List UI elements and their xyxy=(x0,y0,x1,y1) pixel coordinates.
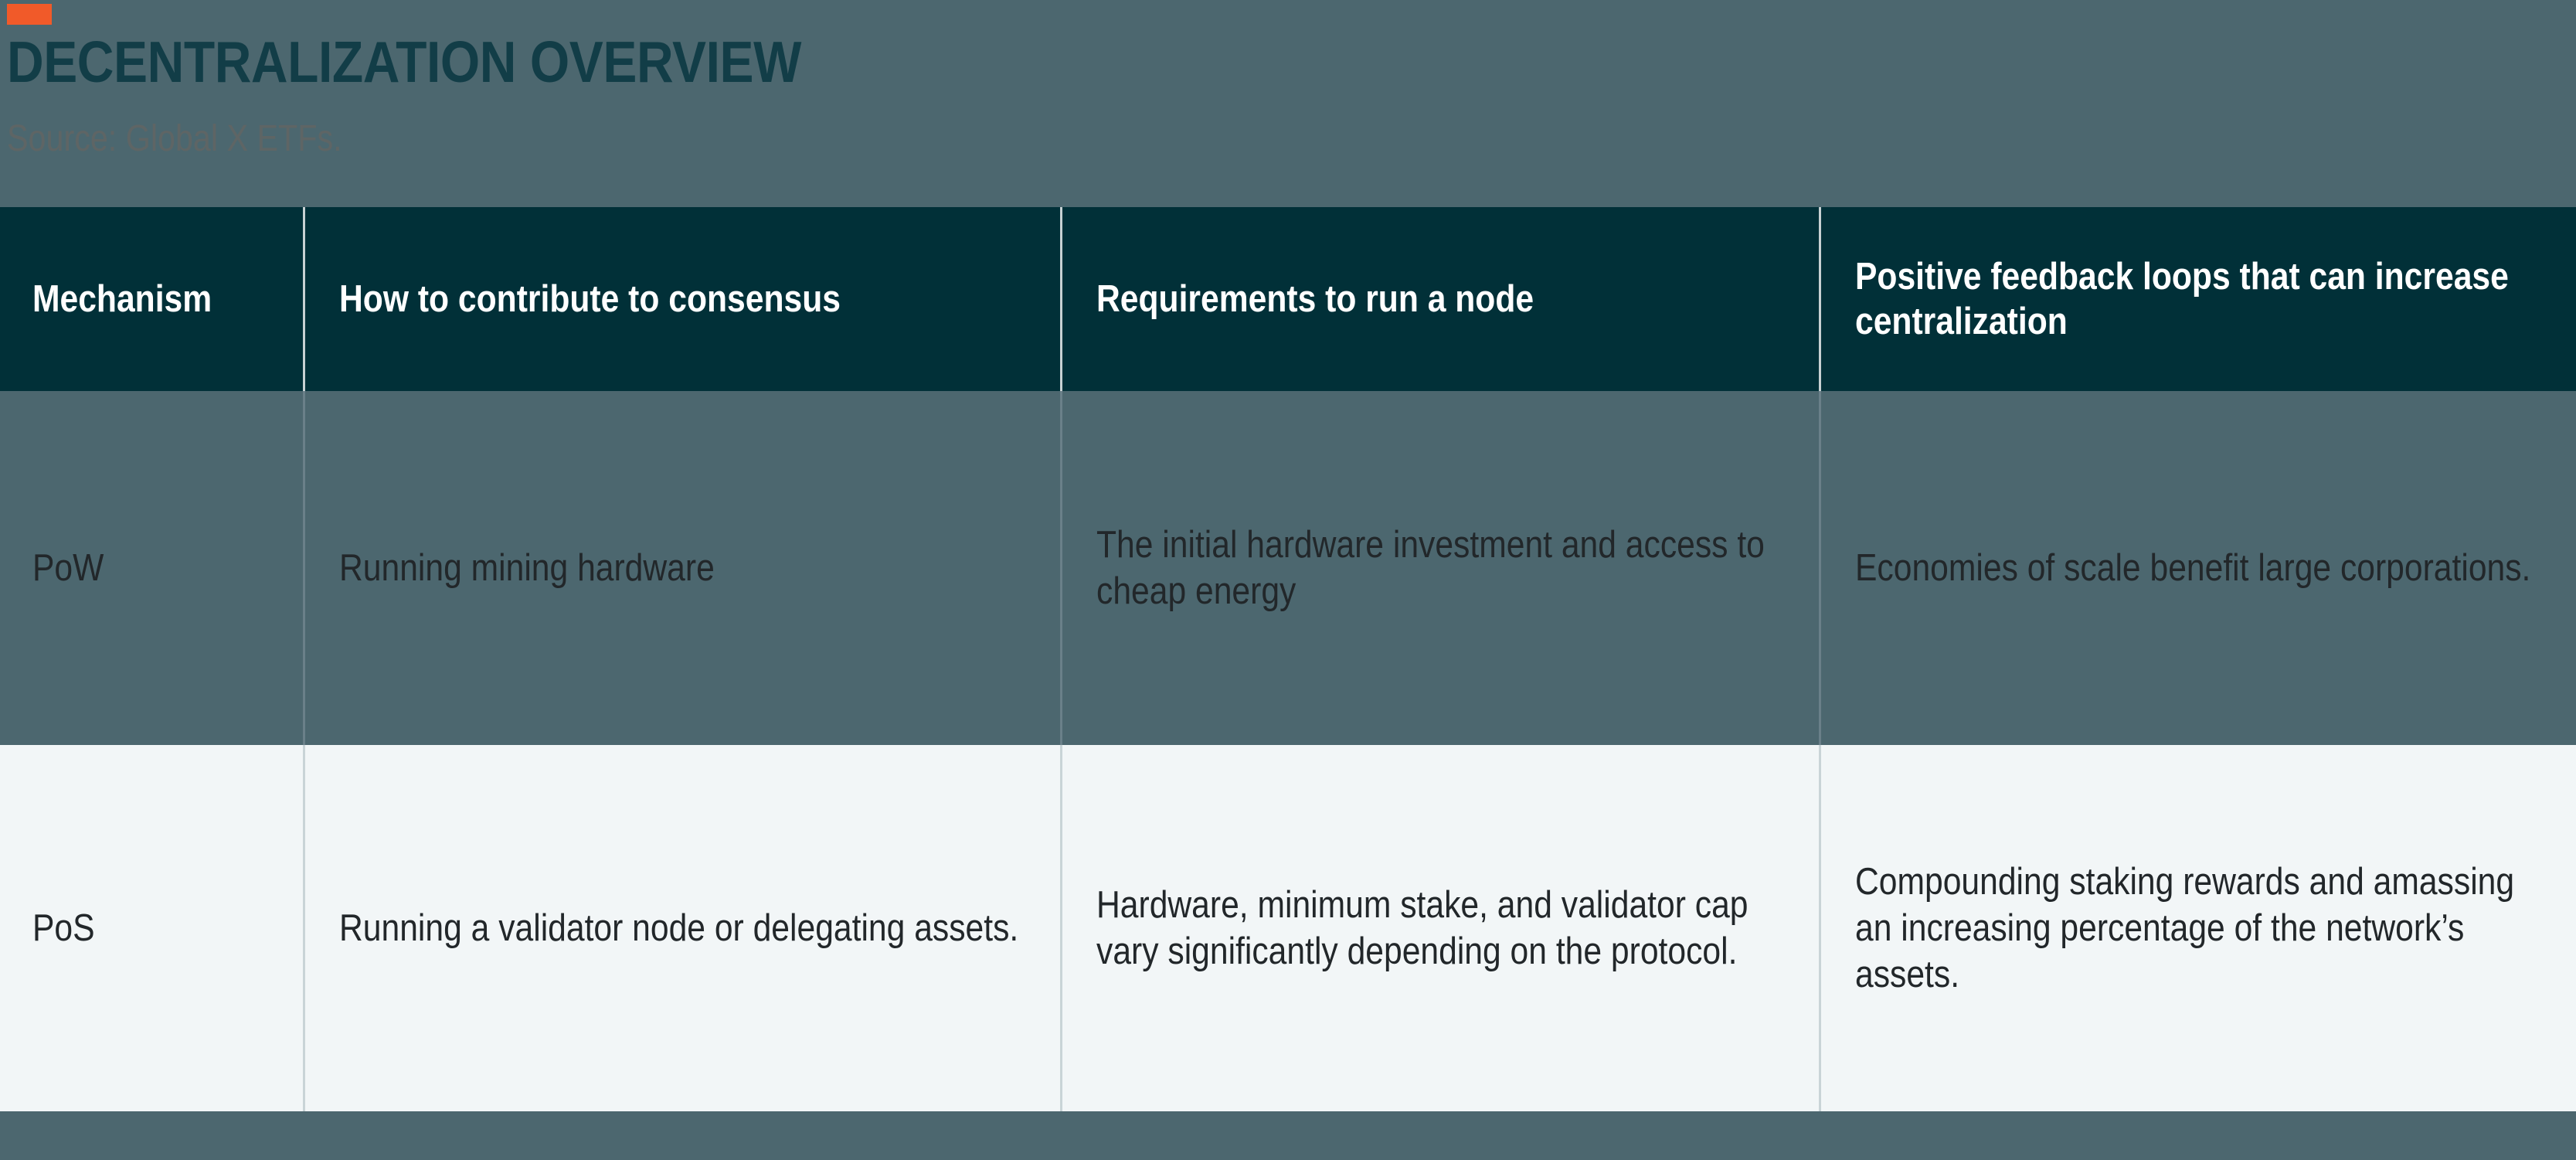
cell-mechanism-value: PoS xyxy=(32,905,287,951)
column-header-requirements: Requirements to run a node xyxy=(1060,207,1819,391)
column-header-feedback: Positive feedback loops that can increas… xyxy=(1819,207,2576,391)
cell-feedback-value: Compounding staking rewards and amassing… xyxy=(1855,859,2553,998)
column-header-mechanism: Mechanism xyxy=(0,207,303,391)
cell-contribute: Running a validator node or delegating a… xyxy=(303,745,1060,1111)
cell-requirements-value: The initial hardware investment and acce… xyxy=(1096,522,1796,614)
bottom-strip xyxy=(0,1111,2576,1160)
table-header-row: Mechanism How to contribute to consensus… xyxy=(0,207,2576,391)
cell-feedback: Compounding staking rewards and amassing… xyxy=(1819,745,2576,1111)
cell-feedback: Economies of scale benefit large corpora… xyxy=(1819,391,2576,745)
cell-mechanism-value: PoW xyxy=(32,545,287,591)
cell-mechanism: PoS xyxy=(0,745,303,1111)
decentralization-overview-table: Mechanism How to contribute to consensus… xyxy=(0,207,2576,1111)
cell-requirements-value: Hardware, minimum stake, and validator c… xyxy=(1096,882,1796,975)
cell-requirements: The initial hardware investment and acce… xyxy=(1060,391,1819,745)
cell-contribute-value: Running mining hardware xyxy=(339,545,1037,591)
column-header-contribute: How to contribute to consensus xyxy=(303,207,1060,391)
column-header-mechanism-label: Mechanism xyxy=(32,277,287,321)
cell-contribute-value: Running a validator node or delegating a… xyxy=(339,905,1037,951)
cell-feedback-value: Economies of scale benefit large corpora… xyxy=(1855,545,2553,591)
header-block: DECENTRALIZATION OVERVIEW Source: Global… xyxy=(0,0,2576,207)
accent-marker xyxy=(7,4,52,25)
page-title: DECENTRALIZATION OVERVIEW xyxy=(7,31,801,93)
column-header-contribute-label: How to contribute to consensus xyxy=(339,277,1037,321)
source-attribution: Source: Global X ETFs. xyxy=(7,119,342,159)
cell-mechanism: PoW xyxy=(0,391,303,745)
cell-requirements: Hardware, minimum stake, and validator c… xyxy=(1060,745,1819,1111)
cell-contribute: Running mining hardware xyxy=(303,391,1060,745)
table-row: PoS Running a validator node or delegati… xyxy=(0,745,2576,1111)
column-header-requirements-label: Requirements to run a node xyxy=(1096,277,1796,321)
column-header-feedback-label: Positive feedback loops that can increas… xyxy=(1855,254,2553,344)
table-row: PoW Running mining hardware The initial … xyxy=(0,391,2576,745)
